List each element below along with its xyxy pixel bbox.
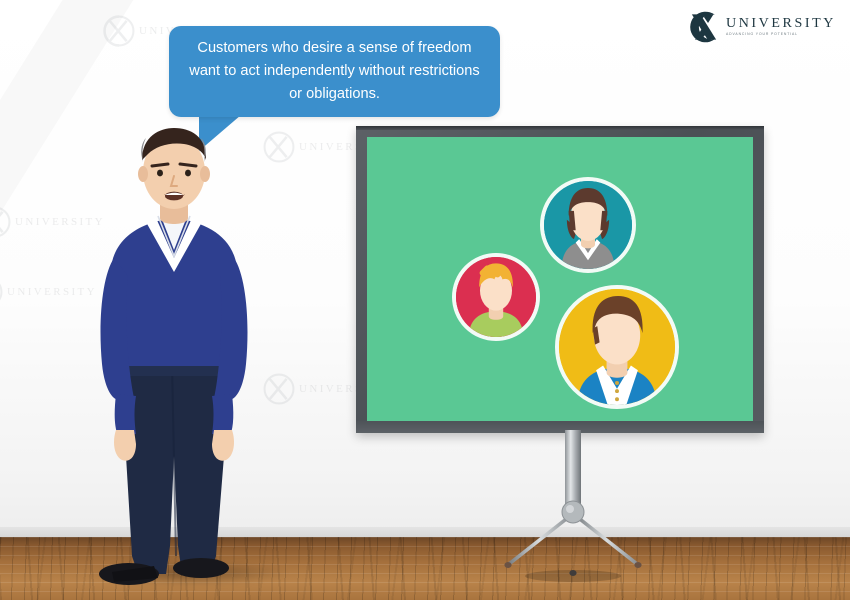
tripod-stand — [498, 430, 648, 590]
brand-logo-text: UNIVERSITY ADVANCING YOUR POTENTIAL — [726, 17, 836, 36]
man-red-avatar-icon — [456, 257, 536, 337]
woman-avatar-icon — [544, 181, 632, 269]
brand-logo-tagline: ADVANCING YOUR POTENTIAL — [726, 33, 836, 36]
tripod-leg-right — [576, 516, 637, 564]
presenter-eyebrow-left — [152, 164, 168, 166]
tripod-leg-left — [509, 516, 570, 564]
projector-screen-surface — [367, 137, 753, 421]
speech-bubble-text: Customers who desire a sense of freedom … — [169, 37, 500, 106]
tripod-foot-right — [634, 562, 641, 568]
tripod-joint — [562, 501, 584, 523]
presenter-eye-left — [157, 170, 163, 177]
speech-bubble: Customers who desire a sense of freedom … — [169, 26, 500, 117]
man-yellow-avatar-icon — [559, 289, 675, 405]
tripod-shadow — [525, 570, 621, 582]
tripod-illustration — [498, 430, 648, 590]
brand-logo-word: UNIVERSITY — [726, 17, 836, 31]
presenter-eyebrow-right — [180, 164, 196, 166]
presenter-eye-right — [185, 170, 191, 177]
projector-screen-frame — [356, 126, 764, 433]
avatar-man-yellow — [555, 285, 679, 409]
brand-logo: UNIVERSITY ADVANCING YOUR POTENTIAL — [686, 9, 836, 45]
presenter-hand-left — [114, 430, 136, 461]
presenter-character — [84, 126, 264, 586]
tripod-foot-left — [504, 562, 511, 568]
presenter-hand-right — [212, 430, 234, 461]
avatar-woman-teal — [540, 177, 636, 273]
video-frame-stage: UNIVERSITY UNIVERSITY UNIVERSITY UNIVERS… — [0, 0, 850, 600]
presenter-shoe-right — [173, 558, 229, 578]
avatar-man-red — [452, 253, 540, 341]
presenter-illustration — [84, 126, 264, 586]
tripod-pole — [565, 430, 581, 512]
x-circle-monogram-icon — [686, 9, 722, 45]
